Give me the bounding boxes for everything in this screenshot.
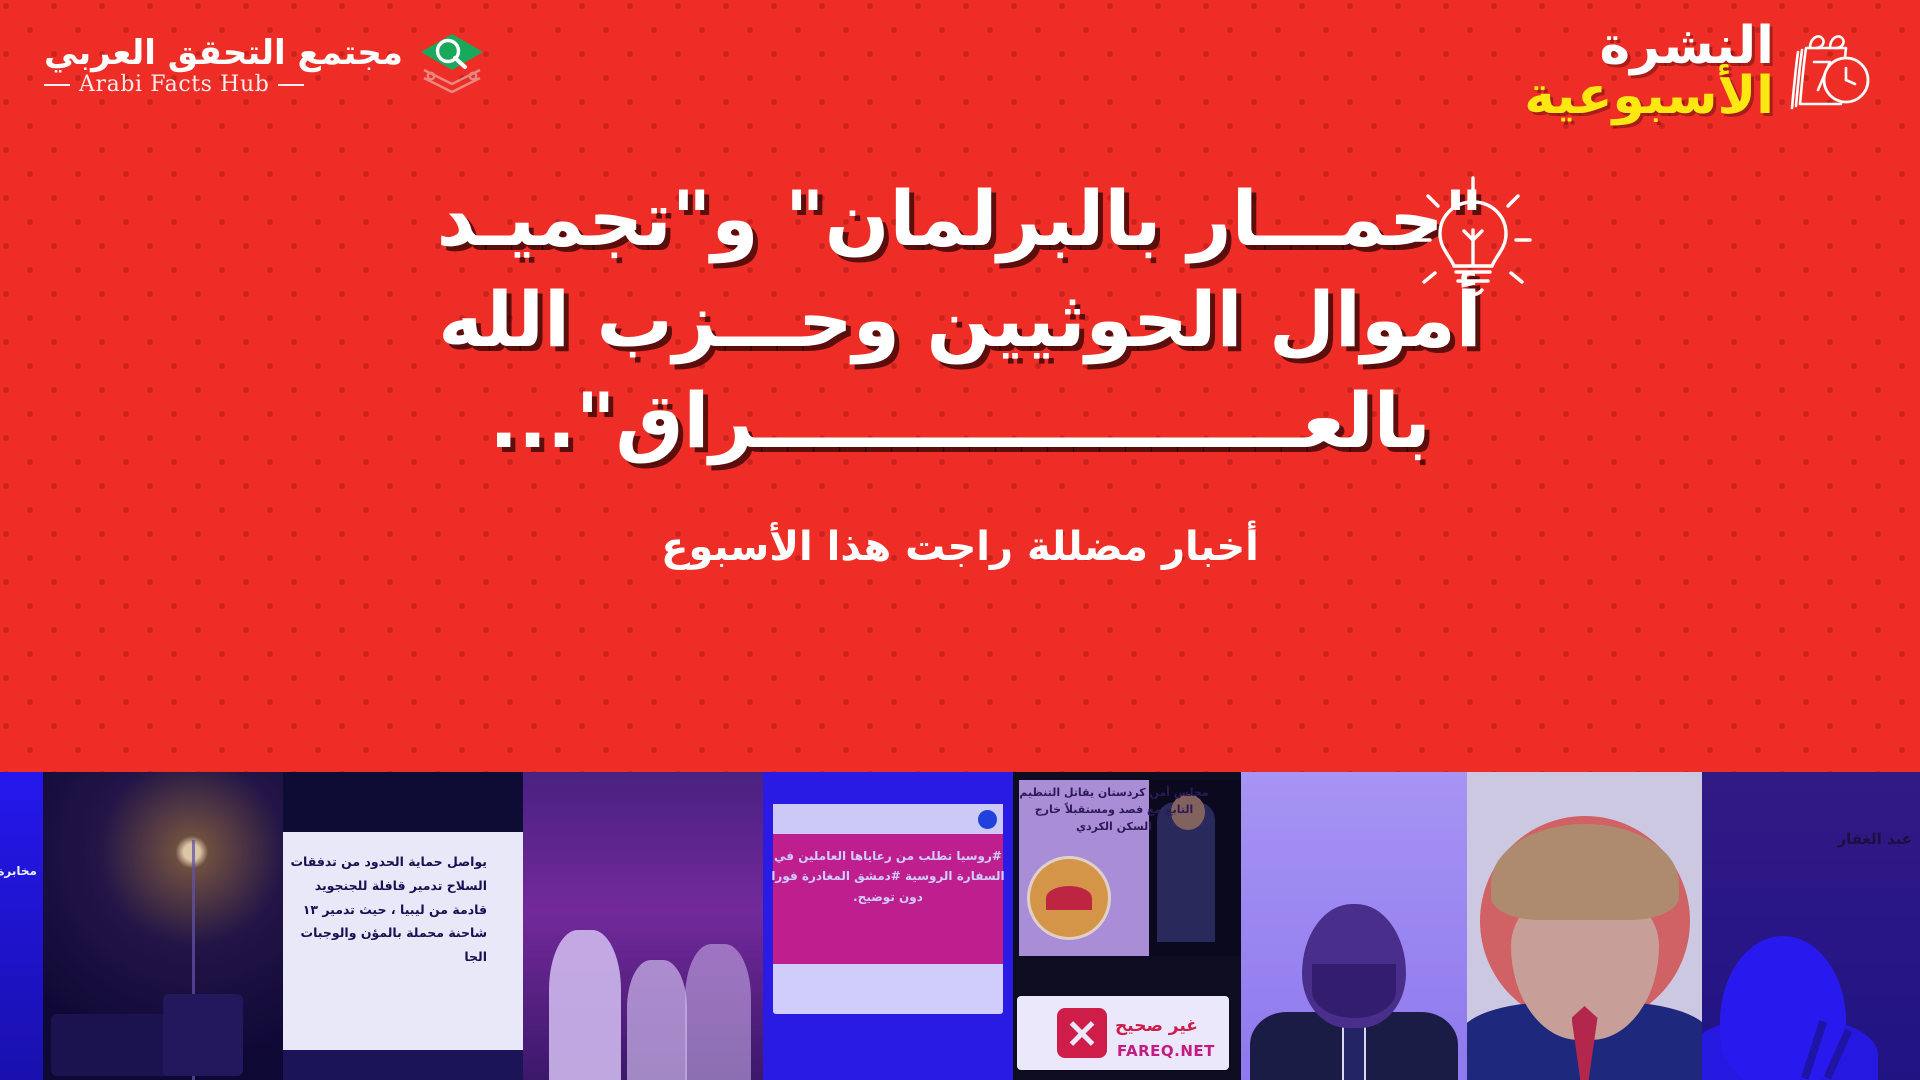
thumbnail-tile[interactable] [1467, 772, 1702, 1080]
newsletter-badge: النشرة الأسبوعية [1524, 22, 1880, 122]
thumbnail-tile[interactable]: مخابرة روسية [0, 772, 43, 1080]
headline-line-3: بالعـــــــــــــــــــــراق"... [234, 370, 1686, 471]
blue-duotone-overlay [523, 772, 763, 1080]
blue-duotone-overlay [43, 772, 283, 1080]
brand-name-latin-text: Arabi Facts Hub [79, 74, 269, 96]
poster-header: مجتمع التحقق العربي Arabi Facts Hub [0, 0, 1920, 160]
calendar-clock-seven-icon [1784, 24, 1880, 120]
layers-magnifier-icon [417, 28, 487, 104]
thumbnail-strip: عبد الغفار [0, 772, 1920, 1080]
blue-duotone-overlay [1702, 772, 1920, 1080]
brand-name-arabic: مجتمع التحقق العربي [44, 36, 403, 70]
blue-duotone-overlay [1241, 772, 1467, 1080]
thumbnail-tile[interactable] [1241, 772, 1467, 1080]
thumbnail-tile[interactable] [43, 772, 283, 1080]
page-subtitle: أخبار مضللة راجت هذا الأسبوع [661, 523, 1259, 571]
rule-right [278, 84, 304, 86]
thumbnail-tile[interactable]: يواصل حماية الحدود من تدفقات السلاح تدمي… [283, 772, 523, 1080]
blue-duotone-overlay [1467, 772, 1702, 1080]
tile-caption: عبد الغفار [1762, 828, 1912, 851]
hero-section: "حمـــار بالبرلمان" و"تجميـد أموال الحوث… [0, 168, 1920, 632]
rule-left [44, 84, 70, 86]
newsletter-title-line1: النشرة [1599, 22, 1774, 72]
brand-name-latin: Arabi Facts Hub [44, 74, 304, 96]
thumbnail-tile[interactable]: عبد الغفار [1702, 772, 1920, 1080]
thumbnail-tile[interactable] [523, 772, 763, 1080]
brand-logo[interactable]: مجتمع التحقق العربي Arabi Facts Hub [44, 28, 487, 104]
poster-canvas: مجتمع التحقق العربي Arabi Facts Hub [0, 0, 1920, 1080]
blue-duotone-overlay [283, 772, 523, 1080]
blue-duotone-overlay [1013, 772, 1241, 1080]
thumbnail-tile[interactable]: #روسيا تطلب من رعاياها العاملين في السفا… [763, 772, 1013, 1080]
newsletter-title-line2: الأسبوعية [1524, 72, 1774, 122]
tile-caption: مخابرة روسية [0, 862, 37, 881]
thumbnail-tile[interactable]: غير صحيح FAREQ.NET مجلس أمن كردستان يقات… [1013, 772, 1241, 1080]
blue-duotone-overlay [0, 772, 43, 1080]
blue-duotone-overlay [763, 772, 1013, 1080]
lightbulb-idea-icon [1398, 160, 1548, 325]
